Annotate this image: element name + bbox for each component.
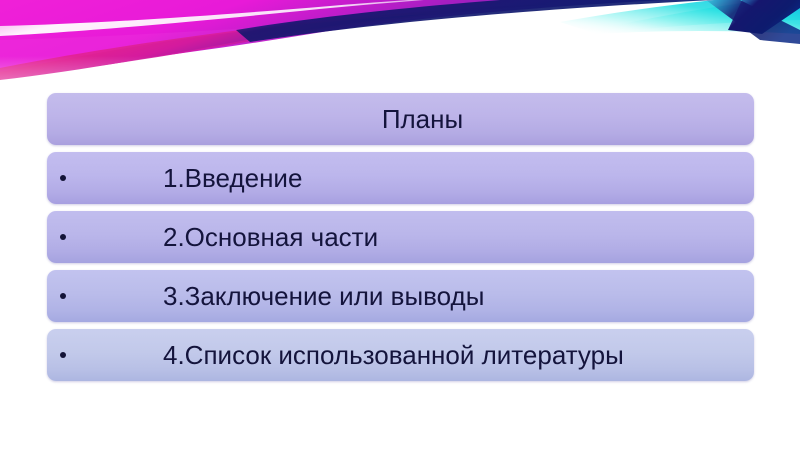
list-item[interactable]: 2.Основная части xyxy=(47,211,754,263)
bullet-icon xyxy=(60,234,66,240)
page-title: Планы xyxy=(47,93,754,145)
list-item[interactable]: 4.Список использованной литературы xyxy=(47,329,754,381)
title-bar: Планы xyxy=(47,93,754,145)
bullet-icon xyxy=(60,175,66,181)
list-item-label: 4.Список использованной литературы xyxy=(163,329,624,381)
bullet-icon xyxy=(60,352,66,358)
slide-canvas: Планы 1.Введение 2.Основная части 3.Закл… xyxy=(0,0,800,449)
list-item-label: 2.Основная части xyxy=(163,211,378,263)
list-item-label: 1.Введение xyxy=(163,152,302,204)
plan-list: Планы 1.Введение 2.Основная части 3.Закл… xyxy=(47,93,754,388)
list-item[interactable]: 1.Введение xyxy=(47,152,754,204)
bullet-icon xyxy=(60,293,66,299)
list-item[interactable]: 3.Заключение или выводы xyxy=(47,270,754,322)
list-item-label: 3.Заключение или выводы xyxy=(163,270,484,322)
